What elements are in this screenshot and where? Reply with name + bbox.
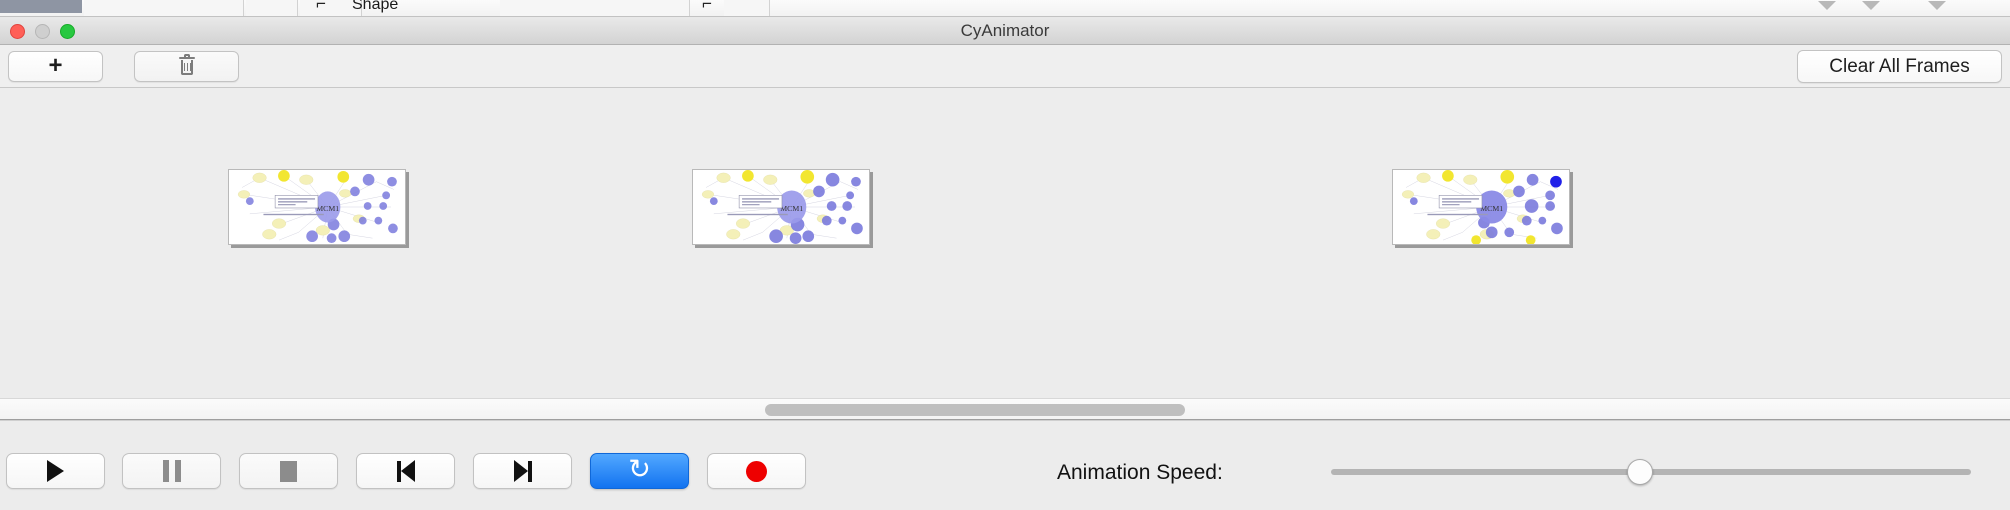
clear-all-frames-button[interactable]: Clear All Frames [1797, 50, 2002, 83]
title-bar: CyAnimator [0, 17, 2010, 45]
timeline-frame-3[interactable]: MCM1 [1392, 169, 1570, 245]
frame-thumbnail-network: MCM1 [1393, 170, 1569, 244]
pause-button[interactable] [122, 453, 221, 489]
background-caret-icon [1928, 1, 1946, 10]
animation-speed-slider[interactable] [1331, 469, 1971, 475]
frame-thumbnail-network: MCM1 [693, 170, 869, 244]
background-glyph: ⌐ [702, 0, 712, 14]
stop-icon [280, 461, 297, 482]
background-tab [84, 0, 244, 17]
play-button[interactable] [6, 453, 105, 489]
trash-icon [179, 57, 195, 76]
timeline-horizontal-scrollbar[interactable] [0, 398, 2010, 420]
timeline-frame-2[interactable]: MCM1 [692, 169, 870, 245]
play-icon [47, 460, 64, 482]
stop-button[interactable] [239, 453, 338, 489]
background-tab [500, 0, 690, 17]
scrollbar-thumb[interactable] [765, 404, 1185, 416]
background-tab [246, 0, 298, 17]
plus-icon: + [48, 54, 62, 78]
record-button[interactable] [707, 453, 806, 489]
background-tab [724, 0, 770, 17]
background-selected-tab [0, 0, 82, 13]
loop-button[interactable]: ↻ [590, 453, 689, 489]
thumbnail-center-node-label: MCM1 [780, 204, 803, 213]
record-icon [746, 461, 767, 482]
background-caret-icon [1818, 1, 1836, 10]
background-window-label: Shape [352, 0, 398, 14]
toolbar: + Clear All Frames [0, 45, 2010, 88]
timeline-frame-1[interactable]: MCM1 [228, 169, 406, 245]
thumbnail-center-node-label: MCM1 [1480, 204, 1503, 213]
skip-forward-icon [514, 460, 532, 482]
add-frame-button[interactable]: + [8, 51, 103, 82]
pause-icon [163, 460, 181, 482]
playback-control-bar: ↻ Animation Speed: [0, 420, 2010, 510]
next-frame-button[interactable] [473, 453, 572, 489]
clear-all-frames-label: Clear All Frames [1829, 56, 1969, 78]
loop-icon: ↻ [628, 456, 651, 483]
animation-speed-label: Animation Speed: [1057, 461, 1223, 485]
delete-frame-button[interactable] [134, 51, 239, 82]
animation-speed-slider-knob[interactable] [1627, 459, 1653, 485]
background-window-strip: ⌐ Shape ⌐ [0, 0, 2010, 17]
background-glyph: ⌐ [316, 0, 326, 14]
previous-frame-button[interactable] [356, 453, 455, 489]
timeline-panel[interactable]: MCM1 [0, 88, 2010, 320]
background-caret-icon [1862, 1, 1880, 10]
window-title: CyAnimator [0, 17, 2010, 45]
thumbnail-center-node-label: MCM1 [316, 204, 339, 213]
skip-back-icon [397, 460, 415, 482]
frame-thumbnail-network: MCM1 [229, 170, 405, 244]
